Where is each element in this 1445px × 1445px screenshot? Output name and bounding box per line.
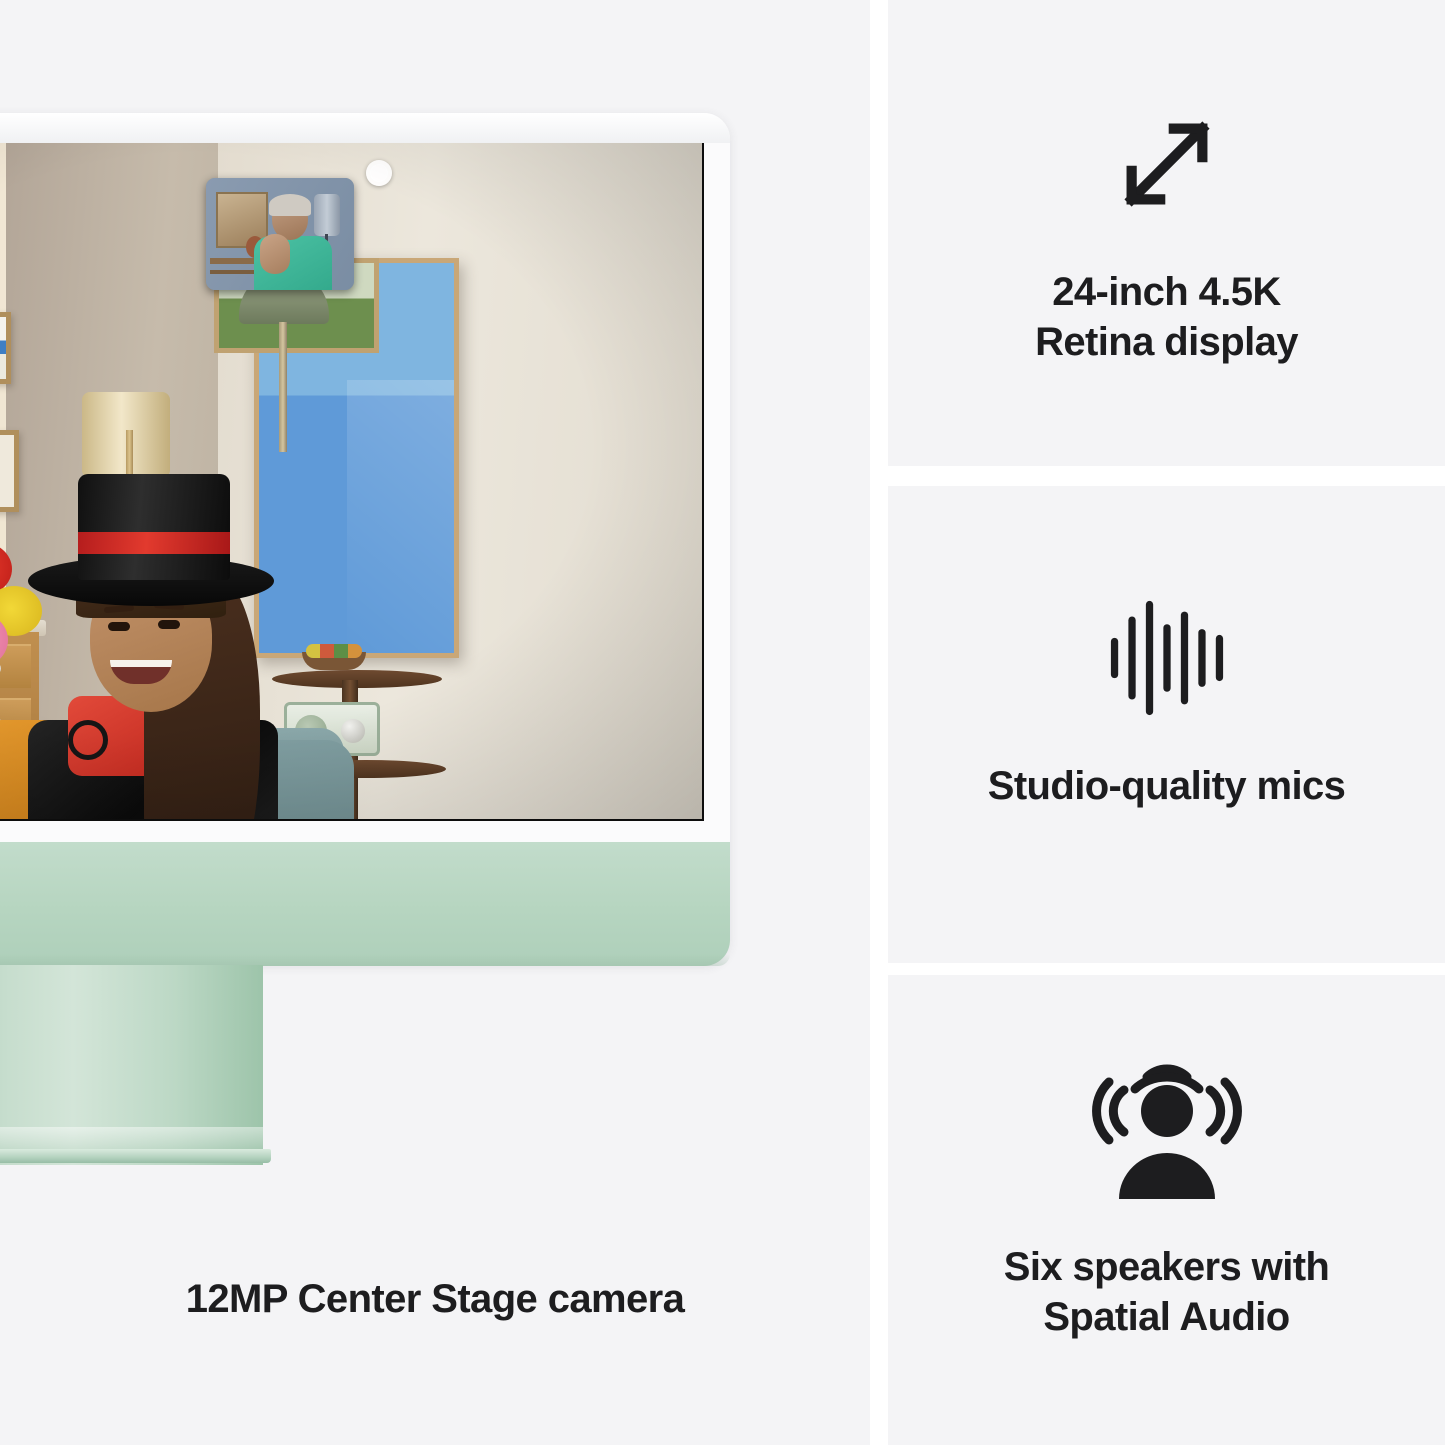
- imac-display-housing: [0, 113, 730, 965]
- speakers-label: Six speakers with Spatial Audio: [1004, 1243, 1330, 1342]
- person-child-magician: [24, 470, 404, 819]
- panel-camera: 12MP Center Stage camera: [0, 0, 870, 1445]
- spatial-audio-person-icon: [1077, 1037, 1257, 1207]
- camera-lens-icon: [107, 124, 123, 140]
- picture-in-picture-tile[interactable]: [206, 178, 354, 290]
- panel-speakers: Six speakers with Spatial Audio: [888, 975, 1445, 1445]
- panel-mics: Studio-quality mics: [888, 486, 1445, 963]
- audio-waveform-icon: [1099, 590, 1235, 726]
- fullscreen-button[interactable]: [366, 160, 392, 186]
- imac-screen: [0, 138, 704, 821]
- diagonal-resize-arrows-icon: [1099, 96, 1235, 232]
- wall-art-small-2: [0, 430, 19, 512]
- imac-stand-neck: [0, 965, 263, 1165]
- imac-stand-foot: [0, 1149, 271, 1163]
- imac-feature-grid: 12MP Center Stage camera 24-inch 4.5K Re…: [0, 0, 1445, 1445]
- panel-display: 24-inch 4.5K Retina display: [888, 0, 1445, 466]
- imac-chin: [0, 842, 730, 966]
- camera-indicator-led-icon: [132, 128, 139, 135]
- display-label: 24-inch 4.5K Retina display: [1035, 268, 1298, 367]
- mics-label: Studio-quality mics: [988, 762, 1346, 812]
- camera-caption: 12MP Center Stage camera: [0, 1275, 870, 1325]
- facetime-video-scene: [0, 140, 702, 819]
- imac-device: [0, 113, 730, 1163]
- wall-art-small-1: [0, 312, 11, 384]
